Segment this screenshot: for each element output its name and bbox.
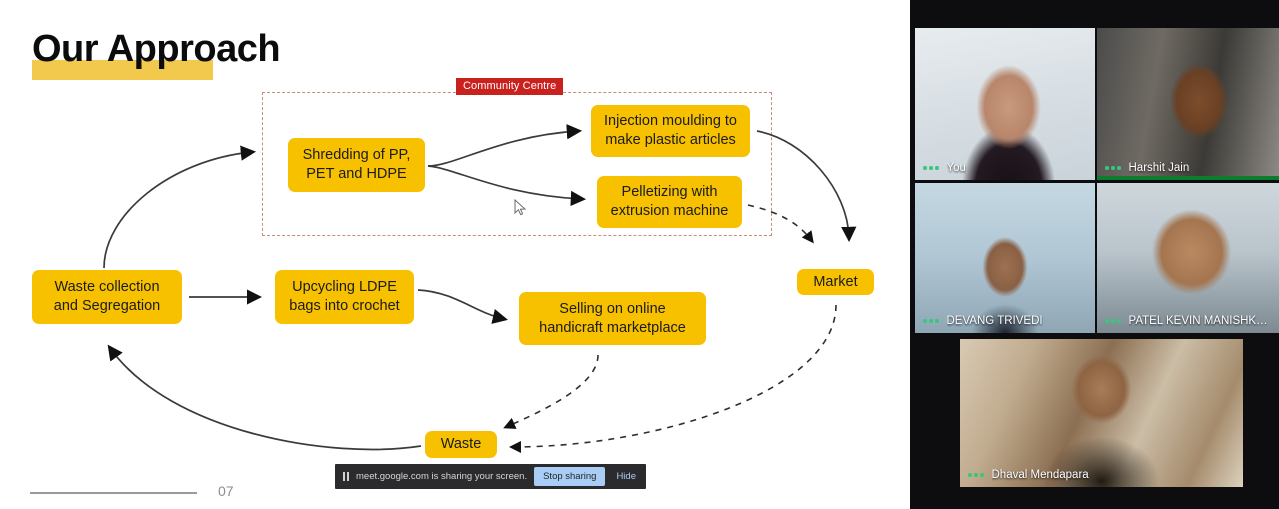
node-label: Injection moulding tomake plastic articl… (604, 112, 737, 150)
participant-name: Harshit Jain (1129, 162, 1190, 174)
mic-activity-icon (923, 319, 939, 323)
page-title: Our Approach (32, 28, 280, 71)
participant-namebar: DEVANG TRIVEDI (915, 311, 1095, 333)
participant-name: DEVANG TRIVEDI (947, 315, 1043, 327)
mic-activity-icon (1105, 319, 1121, 323)
pause-icon[interactable] (343, 472, 349, 481)
participant-namebar: You (915, 158, 1095, 180)
mouse-cursor-icon (514, 199, 528, 217)
node-waste-collection: Waste collectionand Segregation (32, 270, 182, 324)
node-shredding: Shredding of PP,PET and HDPE (288, 138, 425, 192)
node-label: Selling on onlinehandicraft marketplace (539, 300, 686, 338)
participant-name: PATEL KEVIN MANISHK… (1129, 315, 1268, 327)
share-message: meet.google.com is sharing your screen. (356, 471, 527, 482)
hide-button[interactable]: Hide (612, 471, 640, 482)
node-injection-moulding: Injection moulding tomake plastic articl… (591, 105, 750, 157)
stop-sharing-button[interactable]: Stop sharing (534, 467, 605, 486)
slide-page-number: 07 (218, 483, 234, 499)
participant-tile-patel-kevin[interactable]: PATEL KEVIN MANISHK… (1097, 183, 1279, 333)
node-label: Waste collectionand Segregation (54, 278, 160, 316)
node-pelletizing: Pelletizing withextrusion machine (597, 176, 742, 228)
shared-slide: Our Approach Community Centre (0, 0, 910, 509)
participants-panel: You Harshit Jain DEVANG TRIVEDI PATEL KE… (910, 0, 1279, 509)
node-label: Pelletizing withextrusion machine (611, 183, 729, 221)
node-upcycling: Upcycling LDPEbags into crochet (275, 270, 414, 324)
mic-activity-icon (968, 473, 984, 477)
participant-name: Dhaval Mendapara (992, 469, 1089, 481)
node-market: Market (797, 269, 874, 295)
node-label: Shredding of PP,PET and HDPE (303, 146, 411, 184)
node-label: Upcycling LDPEbags into crochet (289, 278, 399, 316)
node-selling-online: Selling on onlinehandicraft marketplace (519, 292, 706, 345)
footer-divider (30, 492, 197, 494)
screen-share-notification-bar: meet.google.com is sharing your screen. … (335, 464, 646, 489)
mic-activity-icon (923, 166, 939, 170)
participant-namebar: PATEL KEVIN MANISHK… (1097, 311, 1279, 333)
mic-activity-icon (1105, 166, 1121, 170)
participant-name: You (947, 162, 966, 174)
speaking-indicator (1097, 176, 1279, 180)
participant-tile-you[interactable]: You (915, 28, 1095, 180)
participant-tile-harshit-jain[interactable]: Harshit Jain (1097, 28, 1279, 180)
participant-tile-devang-trivedi[interactable]: DEVANG TRIVEDI (915, 183, 1095, 333)
node-waste: Waste (425, 431, 497, 458)
participant-tile-dhaval-mendapara[interactable]: Dhaval Mendapara (960, 339, 1243, 487)
participant-namebar: Dhaval Mendapara (960, 465, 1243, 487)
screen-share-meeting-view: Our Approach Community Centre (0, 0, 1279, 509)
